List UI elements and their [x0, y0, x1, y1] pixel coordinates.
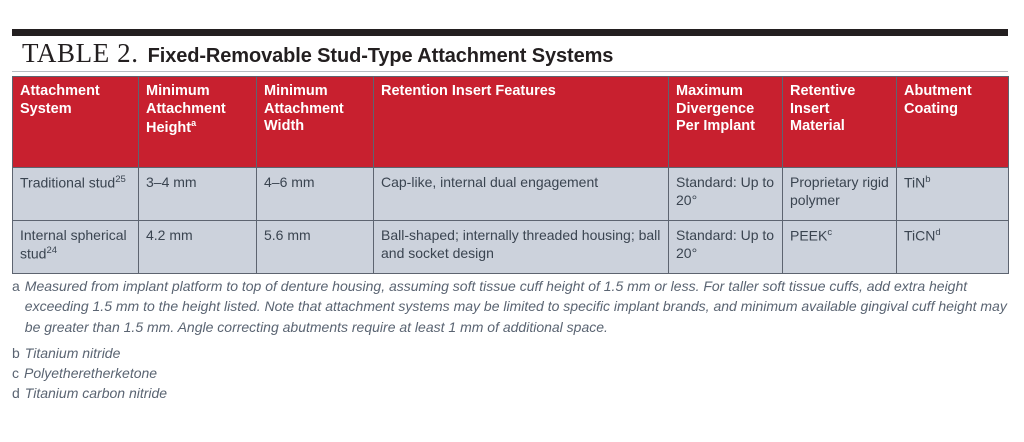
- table-row: Traditional stud25 3–4 mm 4–6 mm Cap-lik…: [13, 168, 1009, 221]
- header-line-1: Retention Insert Features: [381, 83, 556, 99]
- table-number-label: TABLE 2.: [22, 38, 139, 69]
- cell-text: TiN: [904, 175, 925, 191]
- column-header-minimum-attachment-width: Minimum Attachment Width: [257, 77, 374, 168]
- header-line-3: Width: [264, 118, 304, 134]
- footnote-ref-d: d: [935, 227, 940, 238]
- table-title-text: Fixed-Removable Stud-Type Attachment Sys…: [148, 45, 614, 68]
- cell-retention-insert-features: Cap-like, internal dual engagement: [374, 168, 669, 221]
- cell-text: Internal spherical stud: [20, 227, 127, 261]
- footnote-marker: c: [12, 363, 24, 383]
- cell-attachment-system: Internal spherical stud24: [13, 221, 139, 274]
- header-line-3: Material: [790, 118, 845, 134]
- column-header-abutment-coating: Abutment Coating: [897, 77, 1009, 168]
- header-line-2: Coating: [904, 101, 958, 117]
- column-header-attachment-system: Attachment System: [13, 77, 139, 168]
- header-line-1: Attachment: [20, 83, 100, 99]
- cell-abutment-coating: TiCNd: [897, 221, 1009, 274]
- column-header-retentive-insert-material: Retentive Insert Material: [783, 77, 897, 168]
- footnote-c: c Polyetheretherketone: [12, 363, 1012, 383]
- footnotes-block: a Measured from implant platform to top …: [12, 276, 1012, 404]
- cell-maximum-divergence: Standard: Up to 20°: [669, 221, 783, 274]
- footnote-ref-b: b: [925, 174, 930, 185]
- header-line-2: Divergence: [676, 101, 754, 117]
- attachment-systems-table: Attachment System Minimum Attachment Hei…: [12, 76, 1009, 274]
- footnote-text: Titanium nitride: [25, 343, 1012, 363]
- citation-ref: 25: [115, 174, 126, 185]
- footnote-marker: b: [12, 343, 25, 363]
- footnote-ref-c: c: [827, 227, 832, 238]
- footnote-ref-a: a: [191, 118, 196, 128]
- footnote-text: Polyetheretherketone: [24, 363, 1012, 383]
- cell-text: PEEK: [790, 228, 827, 244]
- cell-retention-insert-features: Ball-shaped; internally threaded housing…: [374, 221, 669, 274]
- footnote-text: Measured from implant platform to top of…: [25, 276, 1012, 337]
- table-header: Attachment System Minimum Attachment Hei…: [13, 77, 1009, 168]
- column-header-retention-insert-features: Retention Insert Features: [374, 77, 669, 168]
- header-line-1: Abutment: [904, 83, 972, 99]
- footnote-text: Titanium carbon nitride: [25, 383, 1012, 403]
- footnote-marker: d: [12, 383, 25, 403]
- table-container: Attachment System Minimum Attachment Hei…: [12, 76, 1008, 274]
- cell-retentive-insert-material: Proprietary rigid polymer: [783, 168, 897, 221]
- cell-retentive-insert-material: PEEKc: [783, 221, 897, 274]
- header-line-1: Minimum: [146, 83, 210, 99]
- cell-minimum-attachment-width: 4–6 mm: [257, 168, 374, 221]
- table-body: Traditional stud25 3–4 mm 4–6 mm Cap-lik…: [13, 168, 1009, 274]
- column-header-minimum-attachment-height: Minimum Attachment Heighta: [139, 77, 257, 168]
- cell-minimum-attachment-height: 3–4 mm: [139, 168, 257, 221]
- header-line-1: Retentive: [790, 83, 855, 99]
- cell-maximum-divergence: Standard: Up to 20°: [669, 168, 783, 221]
- header-line-3: Per Implant: [676, 118, 755, 134]
- cell-minimum-attachment-width: 5.6 mm: [257, 221, 374, 274]
- footnote-a: a Measured from implant platform to top …: [12, 276, 1012, 337]
- header-line-3: Height: [146, 120, 191, 136]
- header-line-2: Attachment: [264, 101, 344, 117]
- title-top-rule: [12, 29, 1008, 36]
- page-title: TABLE 2. Fixed-Removable Stud-Type Attac…: [22, 38, 1012, 68]
- header-line-1: Minimum: [264, 83, 328, 99]
- header-line-2: Insert: [790, 101, 830, 117]
- title-bottom-rule: [12, 71, 1008, 72]
- footnote-b: b Titanium nitride: [12, 343, 1012, 363]
- footnote-marker: a: [12, 276, 25, 296]
- column-header-maximum-divergence-per-implant: Maximum Divergence Per Implant: [669, 77, 783, 168]
- cell-text: Traditional stud: [20, 175, 115, 191]
- table-figure: TABLE 2. Fixed-Removable Stud-Type Attac…: [0, 0, 1024, 442]
- table-header-row: Attachment System Minimum Attachment Hei…: [13, 77, 1009, 168]
- footnote-d: d Titanium carbon nitride: [12, 383, 1012, 403]
- header-line-2: System: [20, 101, 72, 117]
- cell-minimum-attachment-height: 4.2 mm: [139, 221, 257, 274]
- citation-ref: 24: [46, 245, 57, 256]
- cell-text: TiCN: [904, 228, 935, 244]
- table-row: Internal spherical stud24 4.2 mm 5.6 mm …: [13, 221, 1009, 274]
- header-line-2: Attachment: [146, 101, 226, 117]
- cell-abutment-coating: TiNb: [897, 168, 1009, 221]
- header-line-1: Maximum: [676, 83, 743, 99]
- cell-attachment-system: Traditional stud25: [13, 168, 139, 221]
